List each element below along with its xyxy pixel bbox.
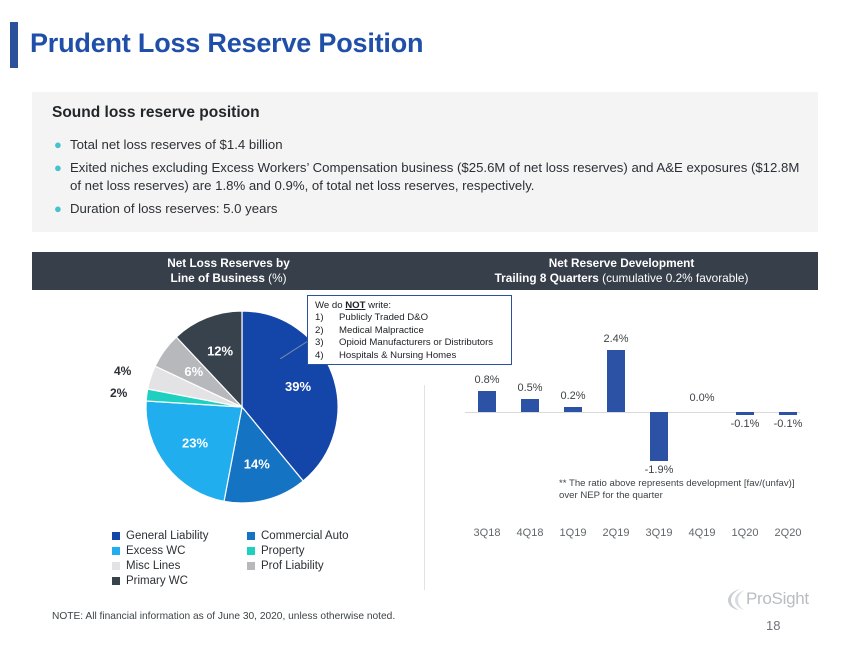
callout-title-post: write: — [366, 300, 392, 311]
pie-value-label: 23% — [182, 436, 208, 451]
bar[interactable] — [564, 407, 582, 412]
bullet-text: Exited niches excluding Excess Workers’ … — [70, 159, 802, 195]
bar[interactable] — [736, 412, 754, 415]
legend-item-commercial-auto: Commercial Auto — [247, 530, 382, 542]
bar-chart-panel: 0.8%3Q180.5%4Q180.2%1Q192.4%2Q19-1.9%3Q1… — [425, 292, 818, 600]
bar[interactable] — [607, 350, 625, 412]
bar[interactable] — [478, 391, 496, 412]
legend-swatch — [247, 562, 255, 570]
legend-label: General Liability — [126, 530, 208, 542]
pie-value-label: 14% — [244, 457, 270, 472]
legend-item-misc-lines: Misc Lines — [112, 560, 247, 572]
bar-value-label: -1.9% — [633, 464, 685, 476]
summary-heading: Sound loss reserve position — [52, 104, 260, 122]
bar-value-label: 2.4% — [590, 333, 642, 345]
pie-header-line2: Line of Business (%) — [170, 271, 286, 286]
callout-item-number: 1) — [315, 312, 339, 325]
pie-header-line2-bold: Line of Business — [170, 271, 268, 285]
summary-panel: Sound loss reserve position ● Total net … — [32, 92, 818, 232]
bar-tick-label: 2Q20 — [762, 527, 814, 539]
pie-value-label: 39% — [285, 379, 311, 394]
prosight-swoosh-icon — [726, 587, 748, 611]
pie-outer-label-misc: 4% — [114, 364, 131, 378]
bar-value-label: -0.1% — [762, 418, 814, 430]
page-title: Prudent Loss Reserve Position — [30, 28, 423, 59]
bar[interactable] — [650, 412, 668, 461]
callout-item-text: Medical Malpractice — [339, 325, 424, 338]
callout-item-number: 2) — [315, 325, 339, 338]
pie-outer-label-property: 2% — [110, 386, 127, 400]
bar-column-4q18: 0.5%4Q18 — [510, 337, 550, 522]
bar-column-3q18: 0.8%3Q18 — [467, 337, 507, 522]
bar-header-line2-bold: Trailing 8 Quarters — [495, 271, 603, 285]
list-item: ● Duration of loss reserves: 5.0 years — [54, 200, 802, 218]
legend-label: Misc Lines — [126, 560, 180, 572]
bullet-dot-icon: ● — [54, 200, 70, 217]
pie-chart-legend: General Liability Commercial Auto Excess… — [112, 530, 382, 587]
legend-item-prof-liability: Prof Liability — [247, 560, 382, 572]
pie-header-line1: Net Loss Reserves by — [167, 256, 290, 271]
legend-swatch — [112, 577, 120, 585]
list-item: ● Exited niches excluding Excess Workers… — [54, 159, 802, 195]
pie-value-label: 6% — [184, 364, 203, 379]
pie-chart-header: Net Loss Reserves by Line of Business (%… — [32, 252, 425, 290]
callout-item-text: Publicly Traded D&O — [339, 312, 428, 325]
bullet-dot-icon: ● — [54, 159, 70, 176]
bar-header-line2: Trailing 8 Quarters (cumulative 0.2% fav… — [495, 271, 749, 286]
bar-chart-header: Net Reserve Development Trailing 8 Quart… — [425, 252, 818, 290]
callout-title-pre: We do — [315, 300, 345, 311]
bar-value-label: 0.0% — [676, 392, 728, 404]
footer-note: NOTE: All financial information as of Ju… — [52, 611, 395, 622]
callout-item-number: 3) — [315, 337, 339, 350]
legend-label: Commercial Auto — [261, 530, 349, 542]
bar[interactable] — [521, 399, 539, 412]
legend-swatch — [247, 547, 255, 555]
legend-label: Property — [261, 545, 304, 557]
legend-label: Excess WC — [126, 545, 185, 557]
title-accent-bar — [10, 22, 18, 68]
summary-bullet-list: ● Total net loss reserves of $1.4 billio… — [54, 136, 802, 223]
legend-label: Primary WC — [126, 575, 188, 587]
legend-swatch — [247, 532, 255, 540]
legend-swatch — [112, 532, 120, 540]
legend-item-excess-wc: Excess WC — [112, 545, 247, 557]
legend-swatch — [112, 562, 120, 570]
legend-label: Prof Liability — [261, 560, 324, 572]
legend-swatch — [112, 547, 120, 555]
list-item: ● Total net loss reserves of $1.4 billio… — [54, 136, 802, 154]
bullet-dot-icon: ● — [54, 136, 70, 153]
prosight-logo-text: ProSight — [746, 589, 809, 609]
bar-header-line1: Net Reserve Development — [549, 256, 695, 271]
page-number: 18 — [766, 618, 780, 633]
legend-item-general-liability: General Liability — [112, 530, 247, 542]
legend-item-property: Property — [247, 545, 382, 557]
pie-header-line2-normal: (%) — [268, 271, 286, 285]
bar-chart-footnote: ** The ratio above represents developmen… — [559, 478, 804, 502]
bar[interactable] — [779, 412, 797, 415]
prosight-logo: ProSight — [726, 586, 822, 612]
bullet-text: Duration of loss reserves: 5.0 years — [70, 200, 802, 218]
bar-value-label: 0.2% — [547, 390, 599, 402]
bar-header-line2-normal: (cumulative 0.2% favorable) — [602, 271, 748, 285]
pie-value-label: 12% — [207, 344, 233, 359]
pie-chart-panel: 39%14%23%6%12% 4% 2% We do NOT write: 1)… — [32, 292, 425, 600]
legend-item-primary-wc: Primary WC — [112, 575, 247, 587]
callout-item-number: 4) — [315, 350, 339, 363]
bullet-text: Total net loss reserves of $1.4 billion — [70, 136, 802, 154]
callout-title-bold: NOT — [345, 300, 365, 311]
slide-root: Prudent Loss Reserve Position Sound loss… — [0, 0, 850, 657]
